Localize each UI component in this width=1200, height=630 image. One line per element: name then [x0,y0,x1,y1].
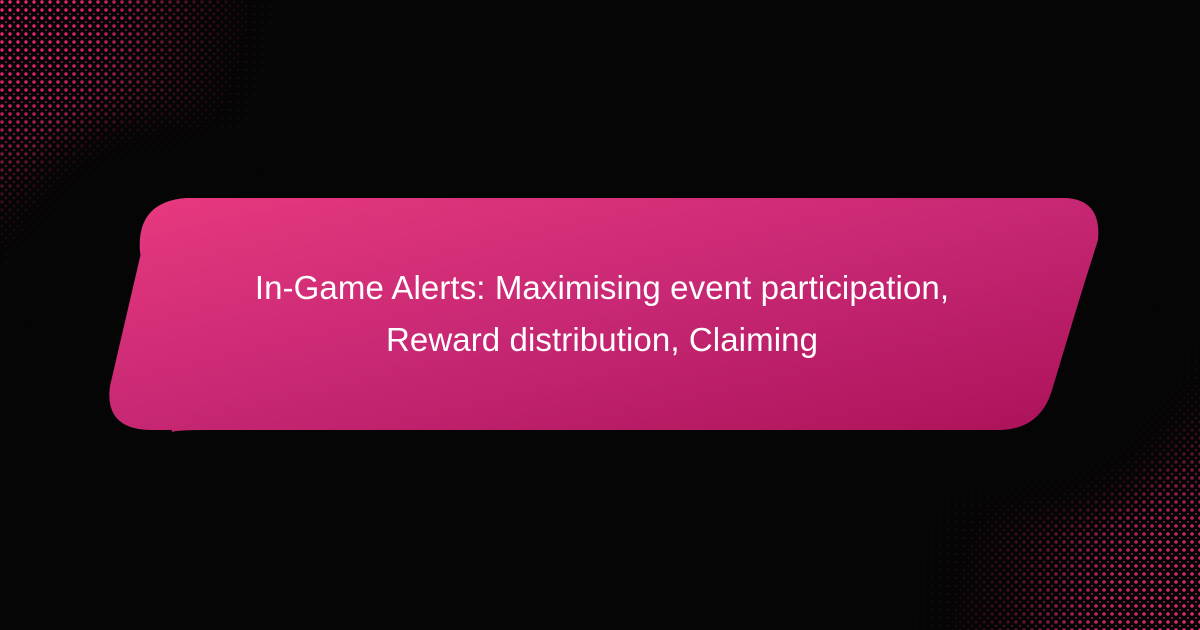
social-card-canvas: In-Game Alerts: Maximising event partici… [0,0,1200,630]
banner-title: In-Game Alerts: Maximising event partici… [100,262,1104,366]
banner-card: In-Game Alerts: Maximising event partici… [100,196,1104,432]
